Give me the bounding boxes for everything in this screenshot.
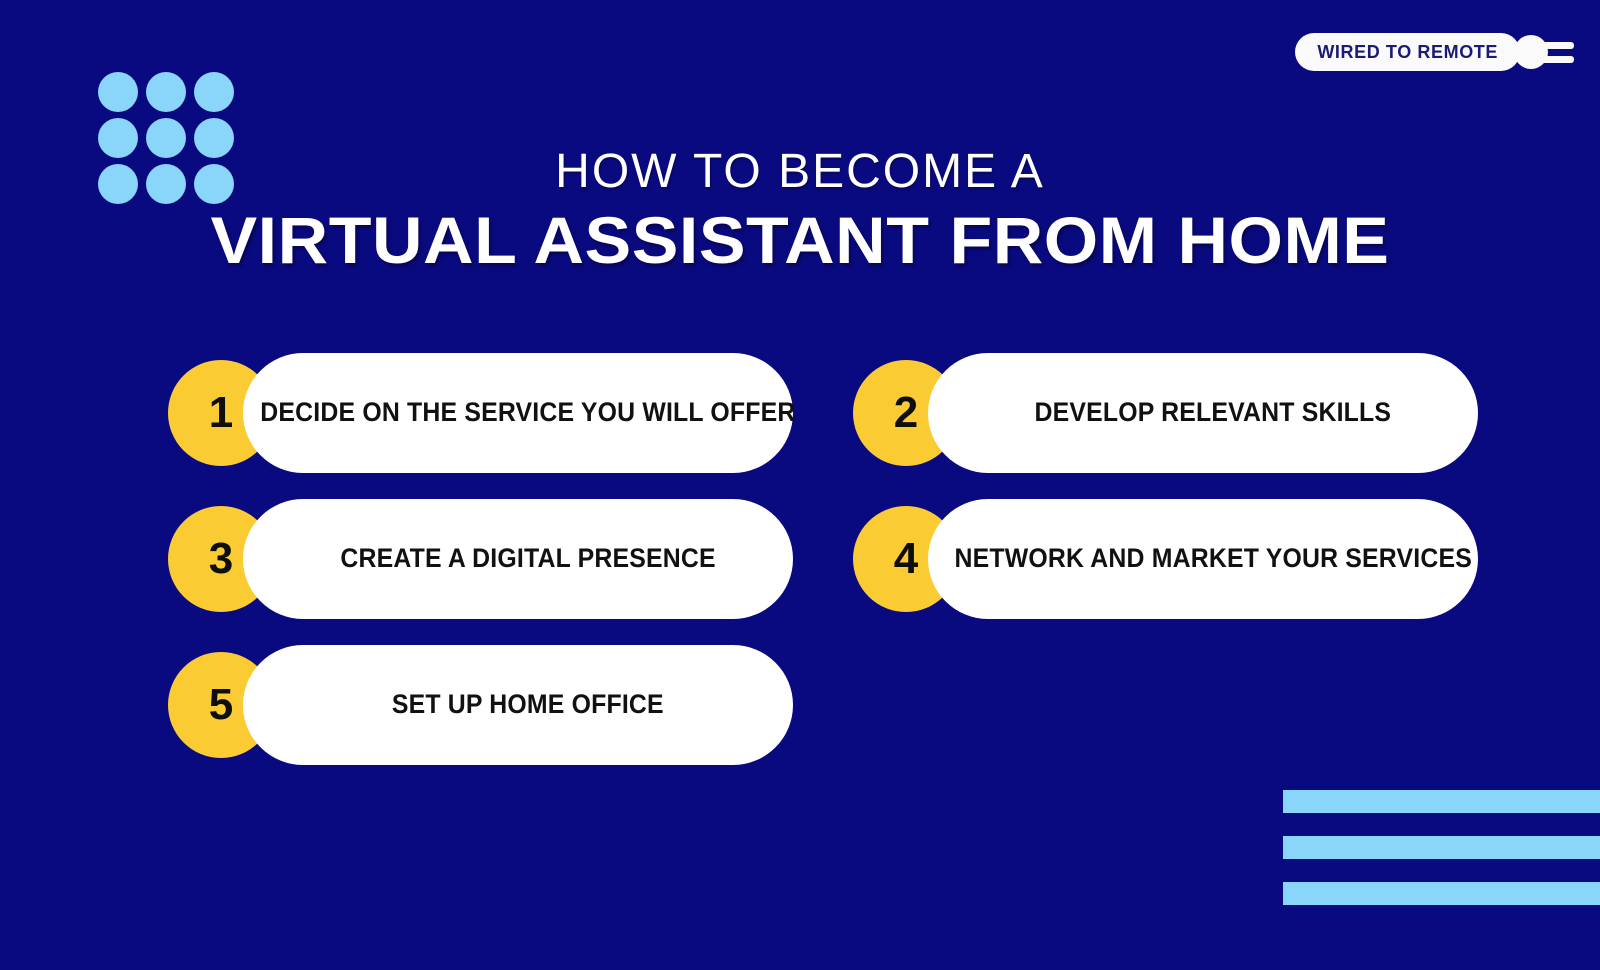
stripe-bar <box>1283 790 1600 813</box>
brand-pill: WIRED TO REMOTE <box>1295 33 1520 71</box>
stripe-bar <box>1283 836 1600 859</box>
brand-name: WIRED TO REMOTE <box>1317 42 1498 63</box>
steps-list: 1 DECIDE ON THE SERVICE YOU WILL OFFER 2… <box>0 353 1600 763</box>
step-label-5: SET UP HOME OFFICE <box>392 689 664 720</box>
step-item-5[interactable]: 5 SET UP HOME OFFICE <box>168 645 793 765</box>
infographic-canvas: WIRED TO REMOTE HOW TO BECOME A VIRTUAL … <box>0 0 1600 970</box>
plug-icon <box>1514 33 1576 71</box>
step-card-4[interactable]: NETWORK AND MARKET YOUR SERVICES <box>928 499 1478 619</box>
step-card-3[interactable]: CREATE A DIGITAL PRESENCE <box>243 499 793 619</box>
dot-grid-dot <box>194 72 234 112</box>
step-card-1[interactable]: DECIDE ON THE SERVICE YOU WILL OFFER <box>243 353 793 473</box>
step-item-4[interactable]: 4 NETWORK AND MARKET YOUR SERVICES <box>853 499 1478 619</box>
page-title: HOW TO BECOME A VIRTUAL ASSISTANT FROM H… <box>0 146 1600 276</box>
step-number-1: 1 <box>209 391 233 435</box>
page-title-line-2: VIRTUAL ASSISTANT FROM HOME <box>0 204 1600 277</box>
stripes-icon <box>1283 790 1600 925</box>
step-card-5[interactable]: SET UP HOME OFFICE <box>243 645 793 765</box>
step-number-5: 5 <box>209 683 233 727</box>
dot-grid-dot <box>98 72 138 112</box>
step-item-3[interactable]: 3 CREATE A DIGITAL PRESENCE <box>168 499 793 619</box>
step-label-2: DEVELOP RELEVANT SKILLS <box>1035 397 1392 428</box>
dot-grid-dot <box>146 72 186 112</box>
plug-prong-top <box>1540 42 1574 49</box>
brand-badge: WIRED TO REMOTE <box>1295 33 1576 71</box>
step-item-2[interactable]: 2 DEVELOP RELEVANT SKILLS <box>853 353 1478 473</box>
step-number-3: 3 <box>209 537 233 581</box>
step-number-2: 2 <box>894 391 918 435</box>
step-card-2[interactable]: DEVELOP RELEVANT SKILLS <box>928 353 1478 473</box>
stripe-bar <box>1283 882 1600 905</box>
step-item-1[interactable]: 1 DECIDE ON THE SERVICE YOU WILL OFFER <box>168 353 793 473</box>
plug-prong-bottom <box>1540 56 1574 63</box>
step-label-3: CREATE A DIGITAL PRESENCE <box>340 543 715 574</box>
step-label-4: NETWORK AND MARKET YOUR SERVICES <box>954 543 1471 574</box>
step-number-4: 4 <box>894 537 918 581</box>
page-title-line-1: HOW TO BECOME A <box>0 146 1600 198</box>
step-label-1: DECIDE ON THE SERVICE YOU WILL OFFER <box>260 397 795 428</box>
